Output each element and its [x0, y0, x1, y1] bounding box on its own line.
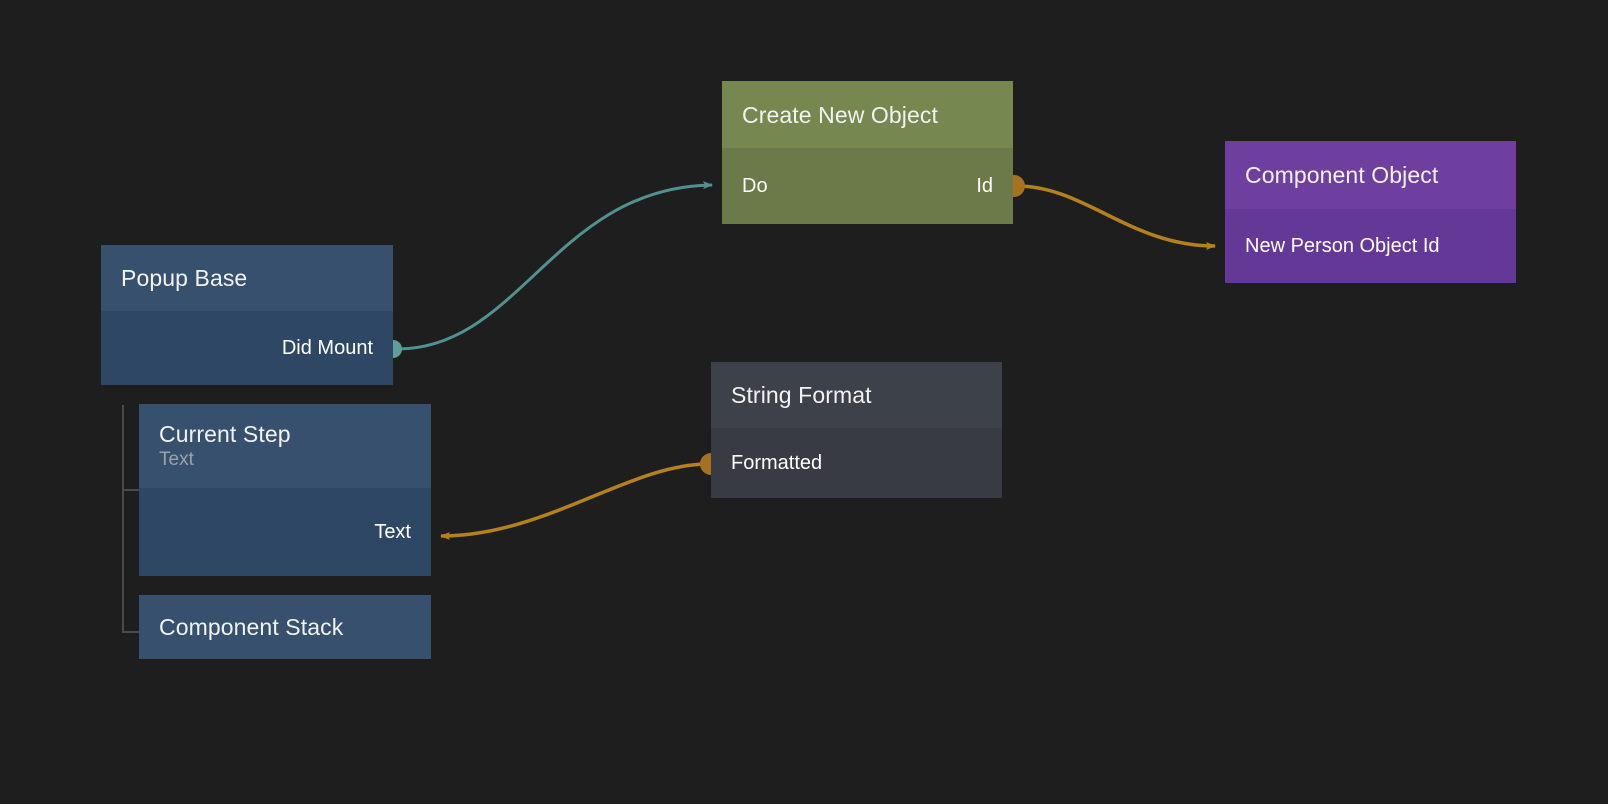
node-current-step[interactable]: Current Step Text Text	[139, 404, 431, 576]
node-current-step-subtitle: Text	[159, 448, 411, 472]
port-label-formatted: Formatted	[731, 451, 822, 475]
tree-line-branch-current-step	[122, 489, 139, 491]
edge-did-mount-to-do	[396, 185, 712, 349]
node-create-new-object-body: Do Id	[722, 148, 1013, 224]
node-string-format-header[interactable]: String Format	[711, 362, 1002, 428]
node-component-object-body: New Person Object Id	[1225, 209, 1516, 283]
node-string-format[interactable]: String Format Formatted	[711, 362, 1002, 498]
node-popup-base[interactable]: Popup Base Did Mount	[101, 245, 393, 385]
node-current-step-body: Text	[139, 488, 431, 576]
node-current-step-title: Current Step	[159, 419, 411, 449]
node-component-stack-header[interactable]: Component Stack	[139, 595, 431, 659]
tree-line-vertical	[122, 405, 124, 633]
node-popup-base-header[interactable]: Popup Base	[101, 245, 393, 311]
edge-formatted-to-text	[441, 464, 708, 536]
node-string-format-body: Formatted	[711, 428, 1002, 498]
port-row-text[interactable]: Text	[139, 488, 431, 576]
port-row-did-mount[interactable]: Did Mount	[101, 311, 393, 385]
port-label-did-mount: Did Mount	[282, 336, 373, 360]
node-component-object[interactable]: Component Object New Person Object Id	[1225, 141, 1516, 283]
edge-id-to-new-person-object-id	[1017, 186, 1215, 246]
port-label-text: Text	[374, 520, 411, 544]
port-label-id: Id	[976, 174, 993, 198]
node-popup-base-title: Popup Base	[121, 263, 373, 293]
node-string-format-title: String Format	[731, 380, 982, 410]
node-component-object-title: Component Object	[1245, 160, 1496, 190]
node-create-new-object-title: Create New Object	[742, 100, 993, 130]
node-component-object-header[interactable]: Component Object	[1225, 141, 1516, 209]
node-component-stack[interactable]: Component Stack	[139, 595, 431, 659]
port-row-new-person-object-id[interactable]: New Person Object Id	[1225, 209, 1516, 283]
node-popup-base-body: Did Mount	[101, 311, 393, 385]
graph-canvas[interactable]: Popup Base Did Mount Current Step Text T…	[0, 0, 1608, 804]
port-row-formatted[interactable]: Formatted	[711, 428, 1002, 498]
node-component-stack-title: Component Stack	[159, 612, 411, 642]
node-create-new-object[interactable]: Create New Object Do Id	[722, 81, 1013, 224]
port-row-do-id[interactable]: Do Id	[722, 148, 1013, 224]
tree-line-branch-component-stack	[122, 631, 139, 633]
port-label-do: Do	[742, 174, 768, 198]
node-create-new-object-header[interactable]: Create New Object	[722, 81, 1013, 148]
node-current-step-header[interactable]: Current Step Text	[139, 404, 431, 488]
port-label-new-person-object-id: New Person Object Id	[1245, 234, 1440, 258]
